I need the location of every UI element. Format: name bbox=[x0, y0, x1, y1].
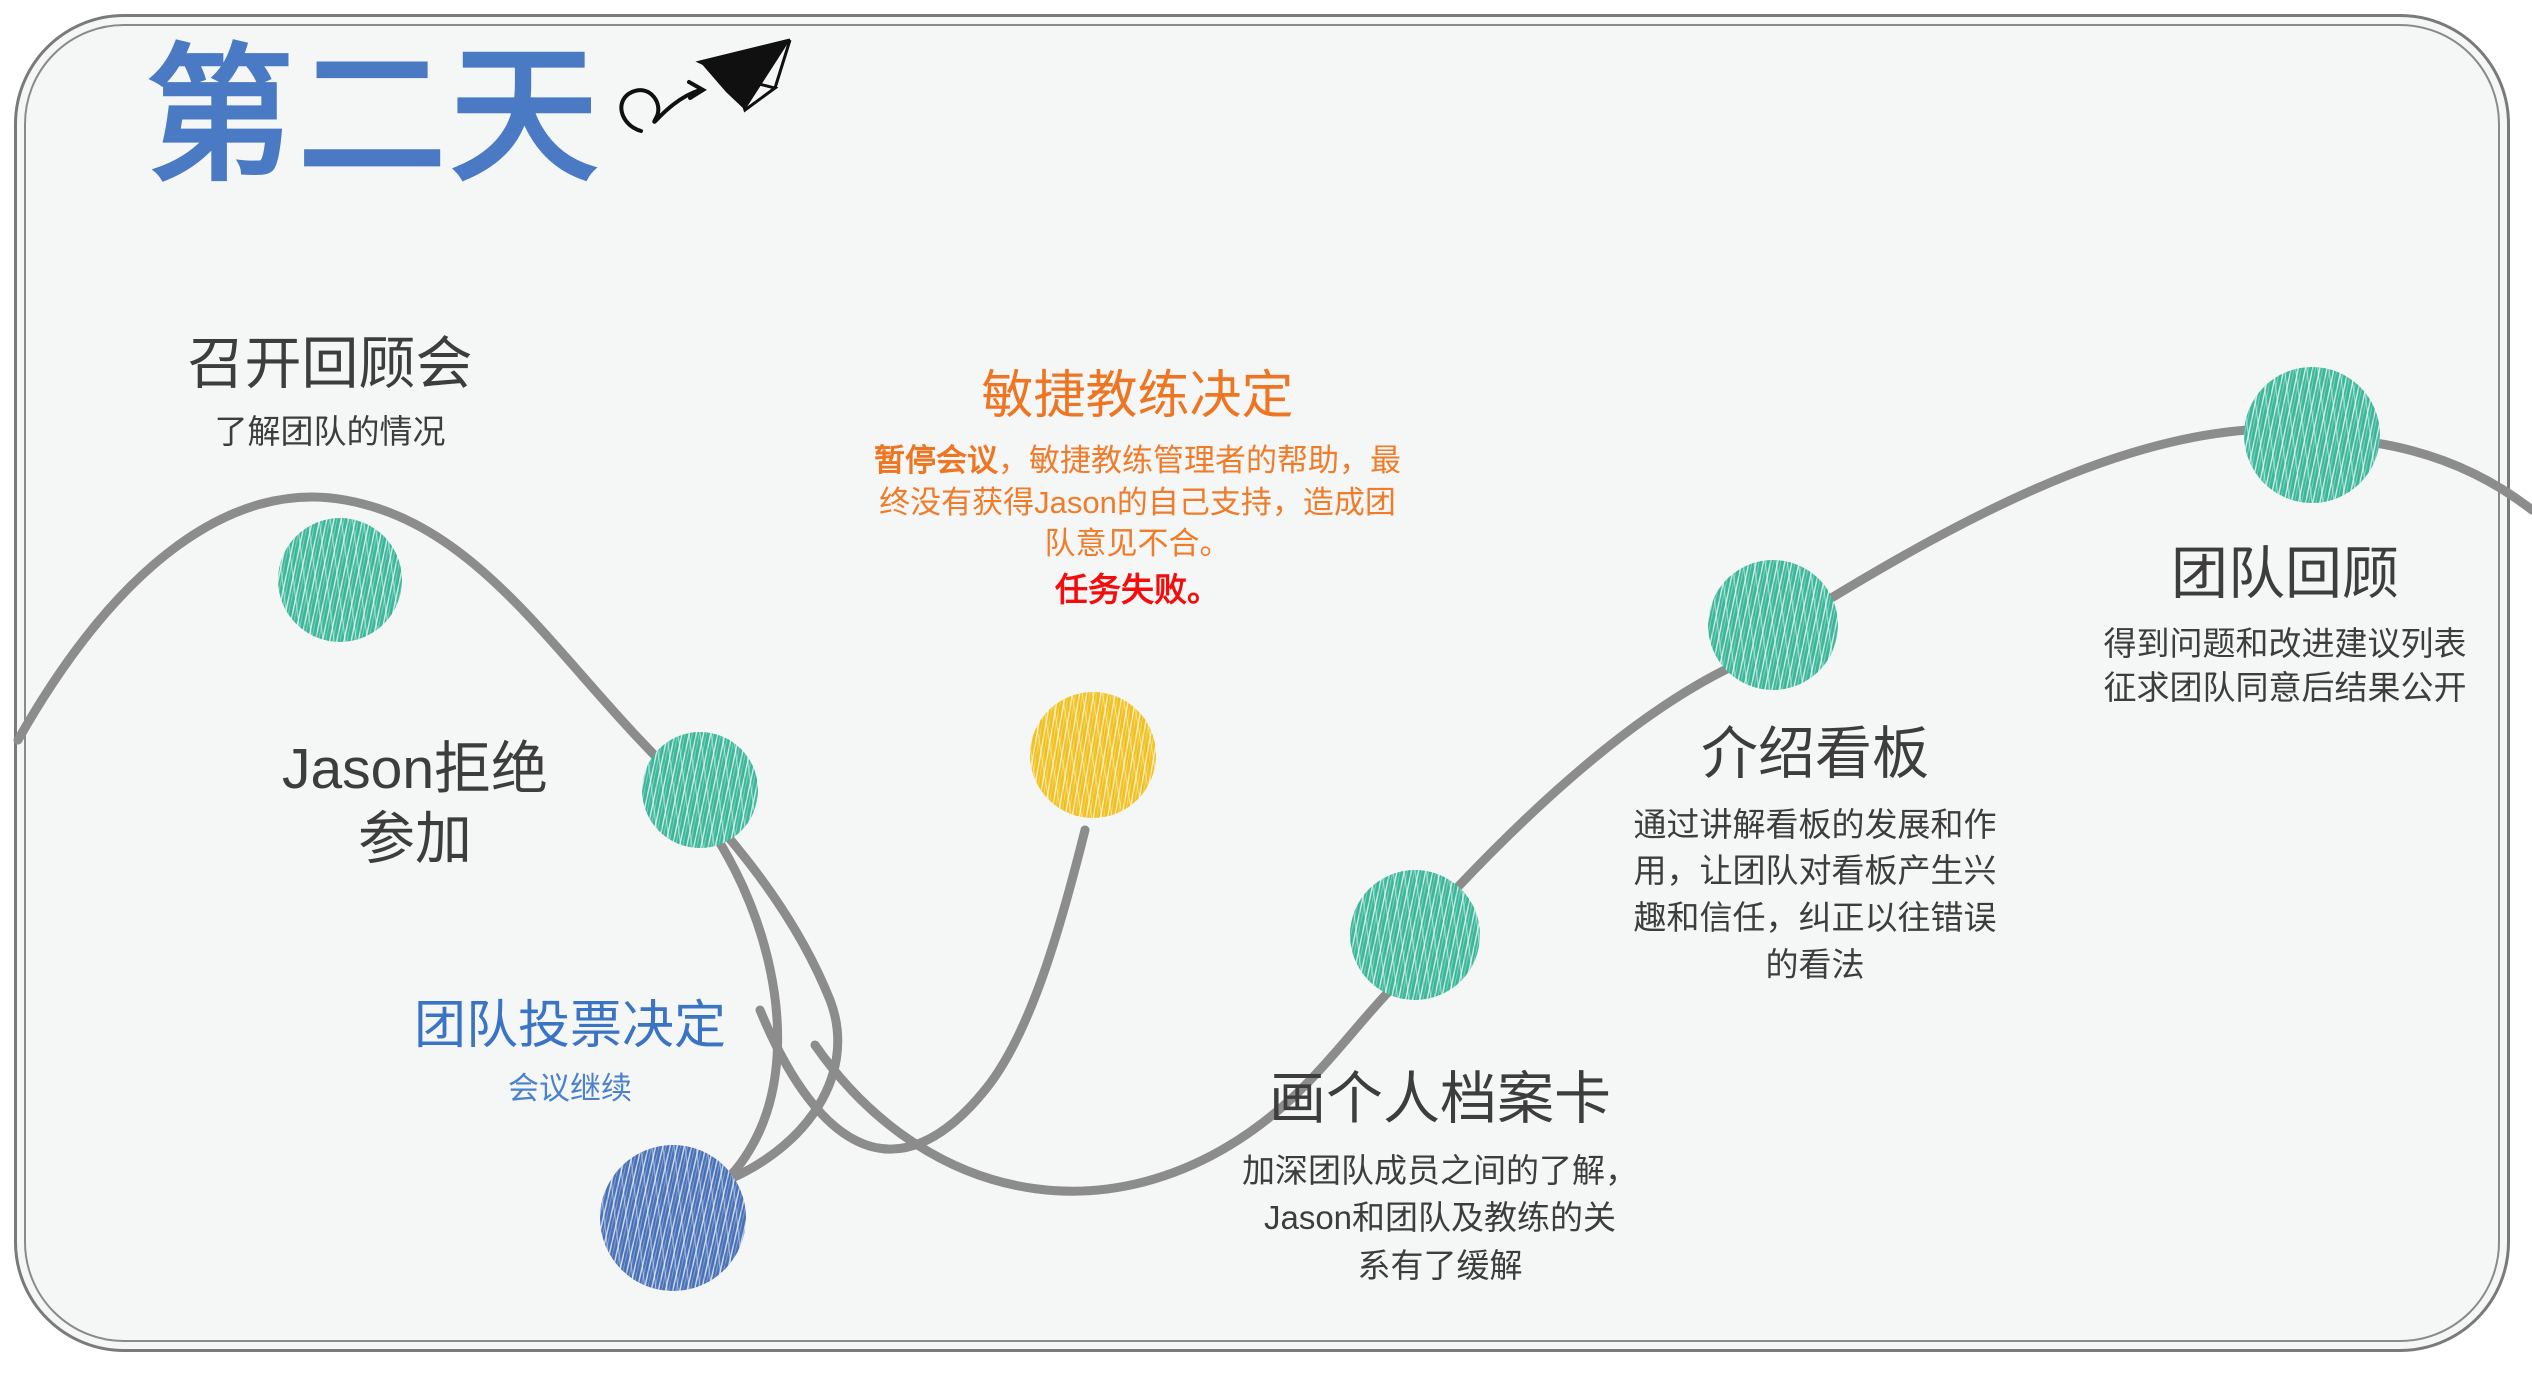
node-label-retro-meeting: 召开回顾会 了解团队的情况 bbox=[100, 330, 560, 452]
node-body-profile-card: 加深团队成员之间的了解， Jason和团队及教练的关 系有了缓解 bbox=[1195, 1147, 1685, 1291]
node-label-intro-kanban: 介绍看板 通过讲解看板的发展和作 用，让团队对看板产生兴 趣和信任，纠正以往错误… bbox=[1580, 720, 2050, 989]
node-head-retro-meeting: 召开回顾会 bbox=[100, 330, 560, 400]
swirl-arrow-icon bbox=[621, 82, 703, 131]
node-body-team-retro: 得到问题和改进建议列表 征求团队同意后结果公开 bbox=[2035, 622, 2532, 711]
node-label-coach-decision: 敏捷教练决定 暂停会议，敏捷教练管理者的帮助，最终没有获得Jason的自己支持，… bbox=[865, 365, 1410, 612]
node-head-profile-card: 画个人档案卡 bbox=[1195, 1065, 1685, 1135]
node-label-jason-refuses: Jason拒绝 参加 bbox=[215, 735, 615, 874]
node-label-team-vote: 团队投票决定 会议继续 bbox=[350, 995, 790, 1108]
slide-canvas: 第二天 召开回顾会 了解团队的情况 Jason拒绝 参加 团队投票决定 会议继续… bbox=[0, 0, 2532, 1374]
paper-plane-icon bbox=[700, 40, 790, 110]
node-body-intro-kanban: 通过讲解看板的发展和作 用，让团队对看板产生兴 趣和信任，纠正以往错误 的看法 bbox=[1580, 802, 2050, 989]
node-head-intro-kanban: 介绍看板 bbox=[1580, 720, 2050, 790]
node-label-team-retro: 团队回顾 得到问题和改进建议列表 征求团队同意后结果公开 bbox=[2035, 540, 2532, 711]
node-head-coach-decision: 敏捷教练决定 bbox=[865, 365, 1410, 428]
node-status-badge-task-failed: 任务失败。 bbox=[865, 568, 1410, 612]
page-title: 第二天 bbox=[146, 36, 602, 199]
node-head-jason-refuses: Jason拒绝 参加 bbox=[215, 735, 615, 874]
node-label-profile-card: 画个人档案卡 加深团队成员之间的了解， Jason和团队及教练的关 系有了缓解 bbox=[1195, 1065, 1685, 1290]
node-head-team-retro: 团队回顾 bbox=[2035, 540, 2532, 610]
node-head-team-vote: 团队投票决定 bbox=[350, 995, 790, 1058]
node-body-emphasis-coach-decision: 暂停会议 bbox=[874, 443, 998, 478]
node-body-coach-decision: 暂停会议，敏捷教练管理者的帮助，最终没有获得Jason的自己支持，造成团队意见不… bbox=[865, 440, 1410, 612]
node-body-retro-meeting: 了解团队的情况 bbox=[100, 412, 560, 452]
node-body-team-vote: 会议继续 bbox=[350, 1070, 790, 1108]
